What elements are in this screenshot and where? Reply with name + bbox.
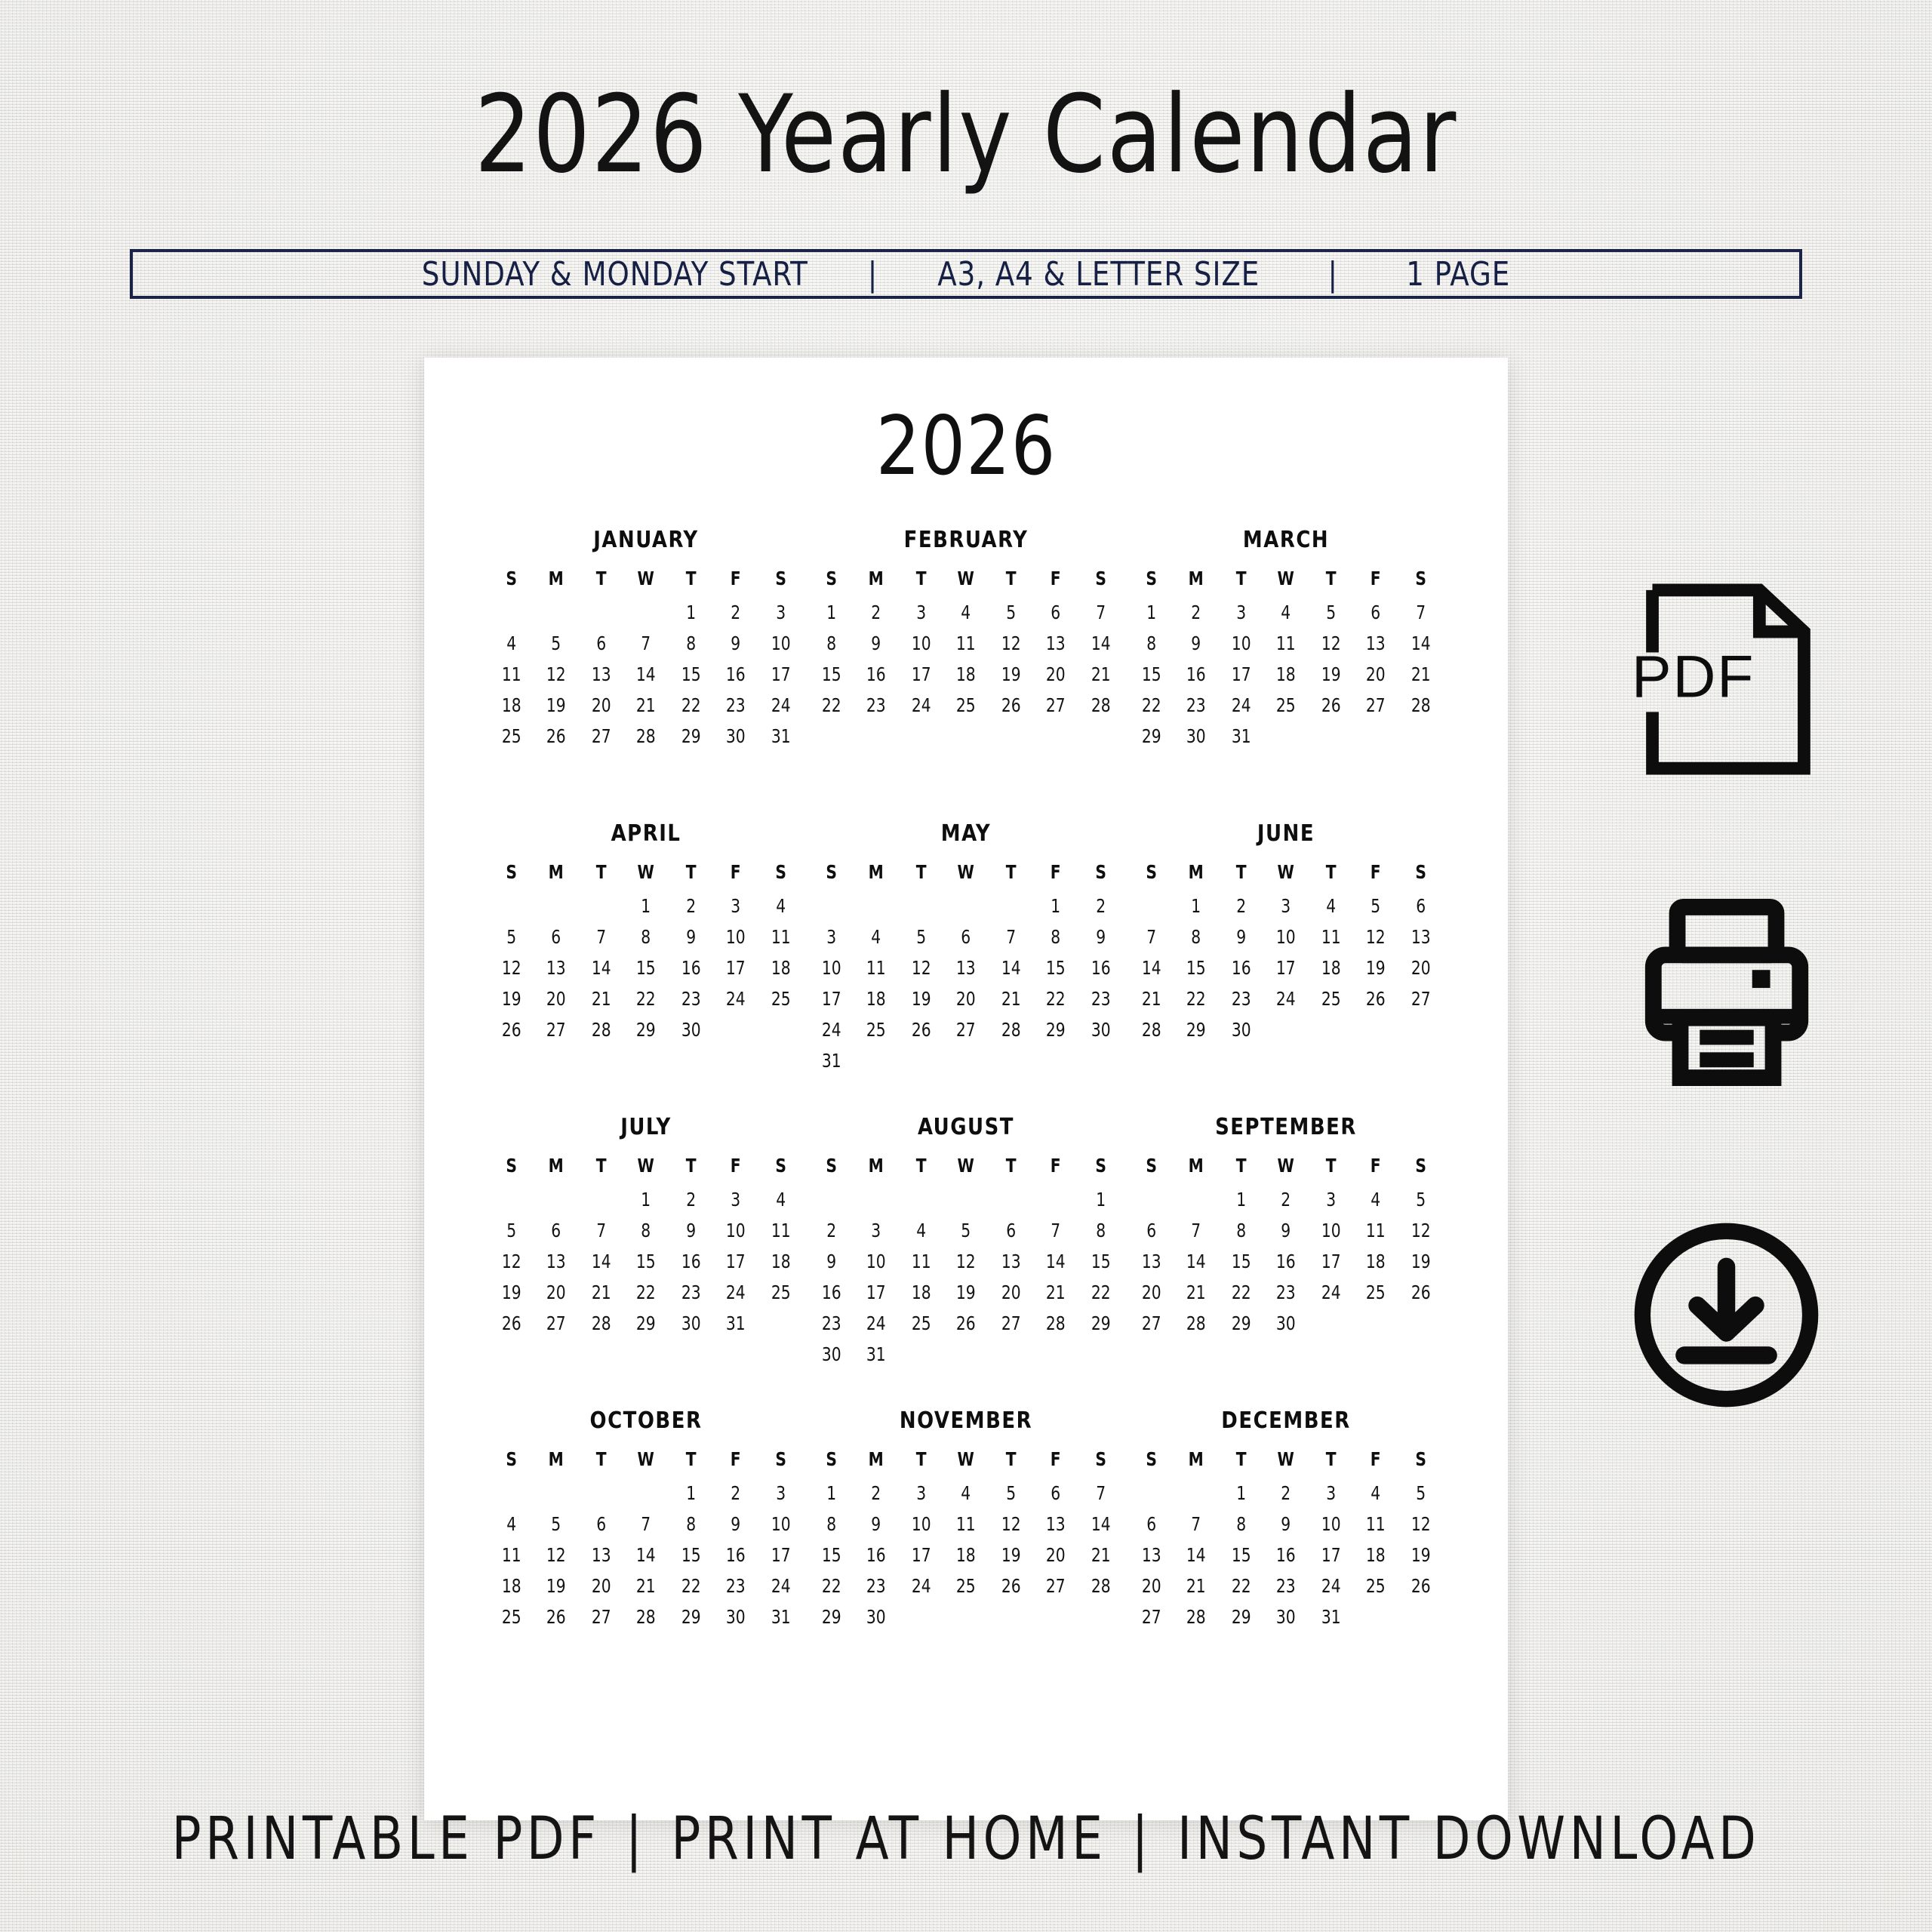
day-cell: 8 <box>811 632 851 654</box>
month-name: JUNE <box>1135 820 1436 847</box>
week-row: 27282930 <box>1129 1312 1443 1334</box>
day-cell: 22 <box>671 1575 711 1597</box>
day-cell: 28 <box>1081 694 1121 716</box>
day-cell: 19 <box>491 988 531 1010</box>
weekday-header-cell: F <box>715 1448 755 1470</box>
weekday-header-cell: W <box>626 568 666 589</box>
weekday-header-cell: F <box>1355 861 1395 883</box>
weekday-header-cell: S <box>1131 1448 1171 1470</box>
weekday-header-cell: F <box>1035 1448 1075 1470</box>
day-cell: 26 <box>1355 988 1395 1010</box>
day-cell: 3 <box>715 895 755 917</box>
weekday-header-cell: T <box>671 1448 711 1470</box>
weekday-header-cell: T <box>1311 568 1351 589</box>
day-cell: 11 <box>856 957 896 979</box>
day-cell: 17 <box>1311 1544 1351 1566</box>
weekday-header-cell: S <box>811 568 851 589</box>
day-cell: 24 <box>715 1281 755 1303</box>
day-cell: 4 <box>761 895 801 917</box>
day-cell: 1 <box>1221 1482 1261 1504</box>
weekday-header-cell: T <box>1221 861 1261 883</box>
weekday-header-cell: S <box>491 568 531 589</box>
day-cell: 20 <box>536 1281 576 1303</box>
day-cell: 9 <box>811 1251 851 1272</box>
day-cell: 13 <box>1035 632 1075 654</box>
day-cell: 21 <box>1081 663 1121 685</box>
day-cell: 16 <box>715 1544 755 1566</box>
weekday-header-cell: T <box>1311 1448 1351 1470</box>
printer-icon <box>1629 898 1825 1087</box>
weekday-header-cell: S <box>1081 1155 1121 1177</box>
day-cell: 27 <box>946 1019 986 1041</box>
day-cell-empty <box>491 895 531 917</box>
day-cell: 3 <box>715 1189 755 1211</box>
day-cell: 14 <box>626 1544 666 1566</box>
svg-text:PDF: PDF <box>1636 644 1755 710</box>
weekday-header-cell: S <box>811 1155 851 1177</box>
day-cell: 22 <box>671 694 711 716</box>
month-block-june: JUNESMTWTFS12345678910111213141516171819… <box>1129 820 1443 1114</box>
day-cell-empty <box>856 895 896 917</box>
day-cell: 12 <box>491 957 531 979</box>
day-cell: 25 <box>491 725 531 747</box>
day-cell: 14 <box>1176 1251 1216 1272</box>
week-row: 262728293031 <box>489 1312 803 1334</box>
day-cell: 8 <box>1221 1220 1261 1241</box>
weekday-header-cell: T <box>901 1448 941 1470</box>
day-cell: 18 <box>1355 1251 1395 1272</box>
day-cell-empty <box>1311 1019 1351 1041</box>
calendar-year-heading: 2026 <box>451 406 1481 488</box>
day-cell: 12 <box>991 632 1031 654</box>
month-block-january: JANUARYSMTWTFS12345678910111213141516171… <box>489 527 803 820</box>
day-cell: 3 <box>901 601 941 623</box>
day-cell: 1 <box>671 601 711 623</box>
day-cell: 8 <box>626 926 666 948</box>
week-row: 3456789 <box>809 926 1123 948</box>
day-cell-empty <box>1131 895 1171 917</box>
week-row: 123 <box>489 1482 803 1504</box>
day-cell-empty <box>1355 1606 1395 1628</box>
day-cell: 9 <box>715 1513 755 1535</box>
day-cell: 2 <box>1176 601 1216 623</box>
day-cell: 9 <box>856 1513 896 1535</box>
day-cell: 27 <box>1355 694 1395 716</box>
day-cell: 16 <box>856 663 896 685</box>
day-cell-empty <box>1035 1606 1075 1628</box>
day-cell: 18 <box>856 988 896 1010</box>
day-cell: 7 <box>1401 601 1441 623</box>
day-cell-empty <box>1176 1482 1216 1504</box>
weekday-header-cell: T <box>581 568 621 589</box>
day-cell: 30 <box>856 1606 896 1628</box>
day-cell: 1 <box>671 1482 711 1504</box>
weekday-header-cell: M <box>856 1448 896 1470</box>
day-cell: 4 <box>491 632 531 654</box>
day-cell-empty <box>901 1050 941 1072</box>
day-cell-empty <box>491 601 531 623</box>
day-cell-empty <box>761 1019 801 1041</box>
day-cell: 7 <box>991 926 1031 948</box>
day-cell: 10 <box>1311 1513 1351 1535</box>
day-cell: 11 <box>946 632 986 654</box>
day-cell: 25 <box>761 988 801 1010</box>
day-cell-empty <box>761 1312 801 1334</box>
day-cell: 20 <box>1035 663 1075 685</box>
week-row: 22232425262728 <box>809 1575 1123 1597</box>
day-cell: 9 <box>1221 926 1261 948</box>
day-cell-empty <box>946 1050 986 1072</box>
day-cell: 19 <box>1355 957 1395 979</box>
month-block-october: OCTOBERSMTWTFS12345678910111213141516171… <box>489 1407 803 1701</box>
day-cell: 25 <box>761 1281 801 1303</box>
weekday-header-cell: W <box>626 1155 666 1177</box>
day-cell: 25 <box>901 1312 941 1334</box>
footer-separator-1: | <box>601 1805 672 1873</box>
month-name: FEBRUARY <box>815 527 1116 553</box>
day-cell: 7 <box>1081 1482 1121 1504</box>
day-cell: 29 <box>1176 1019 1216 1041</box>
day-cell: 13 <box>946 957 986 979</box>
day-cell: 8 <box>671 1513 711 1535</box>
month-block-april: APRILSMTWTFS1234567891011121314151617181… <box>489 820 803 1114</box>
day-cell: 19 <box>991 1544 1031 1566</box>
day-cell: 1 <box>626 1189 666 1211</box>
day-cell: 3 <box>1311 1482 1351 1504</box>
day-cell: 25 <box>1311 988 1351 1010</box>
day-cell: 29 <box>626 1312 666 1334</box>
weekday-header-row: SMTWTFS <box>809 568 1123 589</box>
day-cell: 4 <box>491 1513 531 1535</box>
day-cell: 3 <box>856 1220 896 1241</box>
weekday-header-cell: S <box>491 1448 531 1470</box>
weekday-header-cell: T <box>671 861 711 883</box>
day-cell: 20 <box>536 988 576 1010</box>
day-cell: 11 <box>1355 1513 1395 1535</box>
day-cell: 16 <box>1176 663 1216 685</box>
weekday-header-cell: T <box>1221 568 1261 589</box>
week-row: 567891011 <box>489 1220 803 1241</box>
day-cell: 13 <box>1355 632 1395 654</box>
day-cell-empty <box>1311 725 1351 747</box>
day-cell: 24 <box>1221 694 1261 716</box>
day-cell-empty <box>626 1482 666 1504</box>
day-cell: 24 <box>761 1575 801 1597</box>
day-cell: 22 <box>811 694 851 716</box>
day-cell: 24 <box>1266 988 1306 1010</box>
day-cell: 17 <box>901 663 941 685</box>
day-cell: 18 <box>901 1281 941 1303</box>
day-cell: 29 <box>1081 1312 1121 1334</box>
day-cell: 27 <box>991 1312 1031 1334</box>
day-cell: 7 <box>1176 1220 1216 1241</box>
day-cell-empty <box>901 1189 941 1211</box>
day-cell: 18 <box>1355 1544 1395 1566</box>
day-cell: 4 <box>1355 1482 1395 1504</box>
weekday-header-cell: T <box>671 568 711 589</box>
day-cell: 5 <box>536 1513 576 1535</box>
month-name: DECEMBER <box>1135 1407 1436 1434</box>
weekday-header-row: SMTWTFS <box>1129 568 1443 589</box>
day-cell: 17 <box>761 1544 801 1566</box>
page-title: 2026 Yearly Calendar <box>68 82 1865 189</box>
week-row: 2345678 <box>809 1220 1123 1241</box>
weekday-header-cell: M <box>856 861 896 883</box>
day-cell: 4 <box>1266 601 1306 623</box>
footer-item-printable-pdf: PRINTABLE PDF <box>172 1805 601 1873</box>
day-cell: 14 <box>1081 1513 1121 1535</box>
weekday-header-cell: T <box>581 861 621 883</box>
week-row: 12345 <box>1129 1189 1443 1211</box>
day-cell: 5 <box>1401 1482 1441 1504</box>
week-row: 12131415161718 <box>489 1251 803 1272</box>
day-cell: 7 <box>1176 1513 1216 1535</box>
day-cell-empty <box>581 601 621 623</box>
day-cell: 1 <box>1035 895 1075 917</box>
day-cell: 21 <box>1401 663 1441 685</box>
day-cell: 31 <box>811 1050 851 1072</box>
weekday-header-row: SMTWTFS <box>489 568 803 589</box>
day-cell: 24 <box>1311 1281 1351 1303</box>
week-row: 22232425262728 <box>809 694 1123 716</box>
day-cell: 2 <box>715 601 755 623</box>
day-cell: 5 <box>1355 895 1395 917</box>
day-cell-empty <box>626 601 666 623</box>
day-cell-empty <box>1081 1343 1121 1365</box>
weekday-header-cell: T <box>901 568 941 589</box>
day-cell: 13 <box>536 957 576 979</box>
day-cell: 1 <box>1131 601 1171 623</box>
weekday-header-cell: T <box>991 861 1031 883</box>
weekday-header-cell: T <box>1311 861 1351 883</box>
day-cell: 1 <box>1176 895 1216 917</box>
day-cell: 23 <box>856 1575 896 1597</box>
day-cell: 10 <box>901 632 941 654</box>
day-cell: 16 <box>1266 1251 1306 1272</box>
day-cell: 20 <box>581 1575 621 1597</box>
month-name: AUGUST <box>815 1114 1116 1140</box>
day-cell: 10 <box>811 957 851 979</box>
day-cell: 6 <box>581 632 621 654</box>
week-row: 18192021222324 <box>489 694 803 716</box>
weekday-header-cell: W <box>1266 568 1306 589</box>
weekday-header-cell: T <box>901 1155 941 1177</box>
day-cell: 13 <box>536 1251 576 1272</box>
day-cell: 23 <box>1266 1281 1306 1303</box>
day-cell: 7 <box>581 1220 621 1241</box>
weekday-header-cell: W <box>626 861 666 883</box>
day-cell-empty <box>991 1606 1031 1628</box>
day-cell: 27 <box>536 1019 576 1041</box>
day-cell-empty <box>901 895 941 917</box>
week-row: 1234567 <box>809 601 1123 623</box>
day-cell: 26 <box>491 1019 531 1041</box>
day-cell: 4 <box>856 926 896 948</box>
day-cell: 30 <box>1266 1312 1306 1334</box>
week-row: 13141516171819 <box>1129 1544 1443 1566</box>
day-cell: 12 <box>991 1513 1031 1535</box>
day-cell: 3 <box>1221 601 1261 623</box>
month-block-december: DECEMBERSMTWTFS1234567891011121314151617… <box>1129 1407 1443 1701</box>
day-cell: 15 <box>1081 1251 1121 1272</box>
day-cell: 10 <box>1311 1220 1351 1241</box>
day-cell: 8 <box>671 632 711 654</box>
day-cell-empty <box>901 1606 941 1628</box>
day-cell: 14 <box>991 957 1031 979</box>
weekday-header-cell: S <box>1131 1155 1171 1177</box>
listing-image-canvas: 2026 Yearly Calendar SUNDAY & MONDAY STA… <box>0 0 1932 1932</box>
day-cell: 21 <box>581 988 621 1010</box>
day-cell: 28 <box>1081 1575 1121 1597</box>
day-cell: 23 <box>1081 988 1121 1010</box>
day-cell: 11 <box>1311 926 1351 948</box>
day-cell: 17 <box>715 957 755 979</box>
day-cell: 22 <box>1176 988 1216 1010</box>
day-cell: 27 <box>581 725 621 747</box>
month-block-november: NOVEMBERSMTWTFS1234567891011121314151617… <box>809 1407 1123 1701</box>
day-cell: 13 <box>1131 1544 1171 1566</box>
day-cell: 10 <box>1221 632 1261 654</box>
day-cell: 11 <box>491 663 531 685</box>
weekday-header-cell: M <box>536 1448 576 1470</box>
weekday-header-row: SMTWTFS <box>489 1448 803 1470</box>
day-cell: 21 <box>1176 1281 1216 1303</box>
week-row: 25262728293031 <box>489 725 803 747</box>
day-cell: 16 <box>715 663 755 685</box>
week-row: 12 <box>809 895 1123 917</box>
weekday-header-cell: S <box>1131 568 1171 589</box>
month-block-july: JULYSMTWTFS12345678910111213141516171819… <box>489 1114 803 1407</box>
day-cell: 1 <box>626 895 666 917</box>
month-name: MAY <box>815 820 1116 847</box>
day-cell: 30 <box>715 725 755 747</box>
month-name: NOVEMBER <box>815 1407 1116 1434</box>
day-cell: 29 <box>811 1606 851 1628</box>
day-cell: 9 <box>856 632 896 654</box>
weekday-header-cell: F <box>1355 568 1395 589</box>
day-cell: 23 <box>715 694 755 716</box>
weekday-header-cell: S <box>491 1155 531 1177</box>
week-row: 1234567 <box>1129 601 1443 623</box>
day-cell: 6 <box>1131 1513 1171 1535</box>
weekday-header-cell: S <box>761 1155 801 1177</box>
day-cell: 28 <box>581 1019 621 1041</box>
day-cell: 9 <box>1266 1220 1306 1241</box>
month-name: JANUARY <box>495 527 796 553</box>
day-cell: 24 <box>856 1312 896 1334</box>
day-cell: 20 <box>1355 663 1395 685</box>
month-name: MARCH <box>1135 527 1436 553</box>
day-cell: 22 <box>1035 988 1075 1010</box>
day-cell: 26 <box>1401 1575 1441 1597</box>
day-cell: 15 <box>1221 1251 1261 1272</box>
day-cell-empty <box>1035 1189 1075 1211</box>
day-cell-empty <box>1311 1312 1351 1334</box>
day-cell: 5 <box>1401 1189 1441 1211</box>
day-cell: 6 <box>536 1220 576 1241</box>
day-cell: 31 <box>1311 1606 1351 1628</box>
day-cell: 2 <box>715 1482 755 1504</box>
footer-item-instant-download: INSTANT DOWNLOAD <box>1177 1805 1760 1873</box>
day-cell: 2 <box>671 895 711 917</box>
day-cell-empty <box>1035 1050 1075 1072</box>
week-row: 282930 <box>1129 1019 1443 1041</box>
day-cell: 28 <box>1176 1606 1216 1628</box>
day-cell: 12 <box>536 1544 576 1566</box>
day-cell: 9 <box>671 926 711 948</box>
day-cell: 18 <box>1311 957 1351 979</box>
day-cell: 24 <box>901 1575 941 1597</box>
day-cell: 23 <box>811 1312 851 1334</box>
day-cell: 6 <box>1035 601 1075 623</box>
day-cell: 25 <box>946 1575 986 1597</box>
day-cell-empty <box>1035 1343 1075 1365</box>
day-cell: 21 <box>991 988 1031 1010</box>
day-cell-empty <box>1081 1050 1121 1072</box>
feature-badge-bar: SUNDAY & MONDAY START | A3, A4 & LETTER … <box>130 249 1802 299</box>
day-cell: 1 <box>1081 1189 1121 1211</box>
day-cell: 25 <box>491 1606 531 1628</box>
badge-separator-1: | <box>868 255 878 294</box>
day-cell: 27 <box>1401 988 1441 1010</box>
week-row: 17181920212223 <box>809 988 1123 1010</box>
day-cell: 5 <box>536 632 576 654</box>
weekday-header-cell: S <box>811 1448 851 1470</box>
day-cell: 2 <box>856 601 896 623</box>
day-cell: 27 <box>1035 1575 1075 1597</box>
day-cell: 5 <box>991 601 1031 623</box>
day-cell: 2 <box>811 1220 851 1241</box>
weekday-header-cell: M <box>1176 568 1216 589</box>
day-cell-empty <box>946 1189 986 1211</box>
week-row: 23242526272829 <box>809 1312 1123 1334</box>
day-cell: 6 <box>536 926 576 948</box>
week-row: 1234 <box>489 895 803 917</box>
day-cell: 28 <box>626 725 666 747</box>
day-cell: 3 <box>901 1482 941 1504</box>
month-block-august: AUGUSTSMTWTFS123456789101112131415161718… <box>809 1114 1123 1407</box>
footer-features: PRINTABLE PDF|PRINT AT HOME|INSTANT DOWN… <box>77 1805 1854 1873</box>
day-cell: 19 <box>536 1575 576 1597</box>
day-cell: 15 <box>671 1544 711 1566</box>
day-cell: 27 <box>1131 1606 1171 1628</box>
day-cell: 19 <box>536 694 576 716</box>
week-row: 31 <box>809 1050 1123 1072</box>
day-cell: 24 <box>715 988 755 1010</box>
day-cell: 14 <box>581 1251 621 1272</box>
weekday-header-cell: M <box>1176 1155 1216 1177</box>
day-cell-empty <box>991 1189 1031 1211</box>
weekday-header-cell: T <box>991 568 1031 589</box>
week-row: 123 <box>489 601 803 623</box>
day-cell: 30 <box>1081 1019 1121 1041</box>
day-cell: 6 <box>1401 895 1441 917</box>
weekday-header-cell: W <box>946 568 986 589</box>
week-row: 6789101112 <box>1129 1513 1443 1535</box>
day-cell-empty <box>536 1189 576 1211</box>
day-cell-empty <box>1131 1482 1171 1504</box>
weekday-header-cell: S <box>761 568 801 589</box>
day-cell: 16 <box>811 1281 851 1303</box>
day-cell: 6 <box>581 1513 621 1535</box>
day-cell: 8 <box>811 1513 851 1535</box>
day-cell: 6 <box>1131 1220 1171 1241</box>
month-name: JULY <box>495 1114 796 1140</box>
day-cell-empty <box>856 1189 896 1211</box>
day-cell: 4 <box>946 1482 986 1504</box>
weekday-header-cell: W <box>946 1448 986 1470</box>
day-cell: 23 <box>1266 1575 1306 1597</box>
